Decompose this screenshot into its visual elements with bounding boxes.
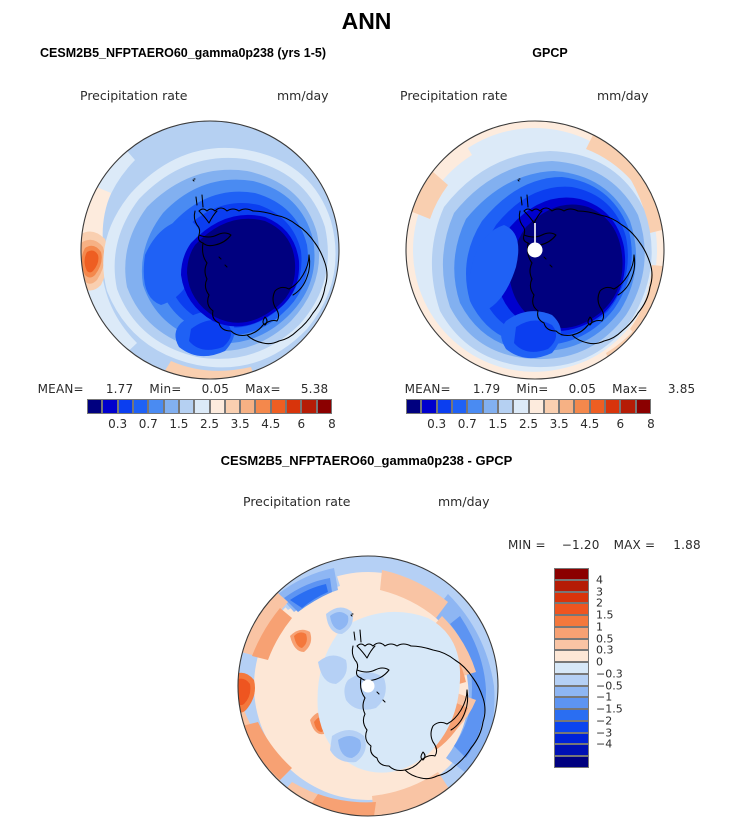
panel-obs-min-label: Min= <box>516 382 548 396</box>
panel-obs-units-label: mm/day <box>597 88 649 103</box>
colorbar-cell <box>225 399 240 414</box>
panel-obs-max-value: 3.85 <box>668 382 696 396</box>
colorbar-cell <box>554 615 589 627</box>
colorbar-cell <box>513 399 528 414</box>
panel-diff-max-label: MAX = <box>614 538 656 552</box>
colorbar-cell <box>194 399 209 414</box>
colorbar-tick-label: 8 <box>328 417 336 431</box>
colorbar-cell <box>554 744 589 756</box>
map-diff <box>232 550 504 822</box>
map-test-contours <box>75 115 345 385</box>
panel-diff-variable-label: Precipitation rate <box>243 494 351 509</box>
colorbar-cell <box>554 721 589 733</box>
panel-diff-min-value: −1.20 <box>562 538 600 552</box>
colorbar-cell <box>406 399 421 414</box>
panel-obs-max-label: Max= <box>612 382 648 396</box>
panel-test-min-value: 0.05 <box>202 382 230 396</box>
colorbar-diff-ticks: 4321.510.50.30−0.3−0.5−1−1.5−2−3−4 <box>596 568 656 768</box>
panel-obs-title: GPCP <box>367 46 733 60</box>
colorbar-cell <box>554 756 589 768</box>
panel-test: CESM2B5_NFPTAERO60_gamma0p238 (yrs 1-5) … <box>0 0 366 440</box>
panel-obs-stats: MEAN= 1.79 Min= 0.05 Max= 3.85 <box>367 382 733 396</box>
panel-test-title: CESM2B5_NFPTAERO60_gamma0p238 (yrs 1-5) <box>0 46 366 60</box>
panel-diff-max-value: 1.88 <box>673 538 701 552</box>
colorbar-cell <box>554 639 589 651</box>
map-obs-svg <box>400 115 670 385</box>
panel-test-stats: MEAN= 1.77 Min= 0.05 Max= 5.38 <box>0 382 366 396</box>
colorbar-cell <box>559 399 574 414</box>
colorbar-cell <box>554 627 589 639</box>
colorbar-tick-label: 4.5 <box>580 417 599 431</box>
panel-diff-stats: MIN = −1.20 MAX = 1.88 <box>508 538 701 552</box>
colorbar-cell <box>554 603 589 615</box>
panel-test-mean-value: 1.77 <box>106 382 134 396</box>
colorbar-cell <box>590 399 605 414</box>
panel-diff-min-label: MIN = <box>508 538 546 552</box>
colorbar-cell <box>87 399 102 414</box>
panel-diff-units-label: mm/day <box>438 494 490 509</box>
colorbar-tick-label: 1.5 <box>488 417 507 431</box>
colorbar-tick-label: −4 <box>596 738 612 751</box>
colorbar-cell <box>498 399 513 414</box>
colorbar-cell <box>467 399 482 414</box>
panel-obs: GPCP Precipitation rate mm/day <box>367 0 733 440</box>
colorbar-tick-label: 0.7 <box>139 417 158 431</box>
colorbar-tick-label: 0.3 <box>108 417 127 431</box>
colorbar-tick-label: 6 <box>298 417 306 431</box>
colorbar-tick-label: 8 <box>647 417 655 431</box>
colorbar-tick-label: 6 <box>617 417 625 431</box>
panel-test-units-label: mm/day <box>277 88 329 103</box>
colorbar-cell <box>301 399 316 414</box>
colorbar-cell <box>554 662 589 674</box>
colorbar-obs-ticks: 0.30.71.52.53.54.568 <box>406 417 651 433</box>
panel-test-variable-label: Precipitation rate <box>80 88 188 103</box>
colorbar-cell <box>102 399 117 414</box>
map-obs <box>400 115 670 385</box>
map-test <box>75 115 345 385</box>
panel-test-min-label: Min= <box>149 382 181 396</box>
colorbar-tick-label: 3.5 <box>550 417 569 431</box>
colorbar-cell <box>554 733 589 745</box>
colorbar-cell <box>544 399 559 414</box>
colorbar-cell <box>554 592 589 604</box>
colorbar-cell <box>179 399 194 414</box>
colorbar-cell <box>148 399 163 414</box>
colorbar-obs[interactable] <box>406 399 651 414</box>
colorbar-cell <box>554 650 589 662</box>
colorbar-cell <box>255 399 270 414</box>
colorbar-cell <box>317 399 332 414</box>
panel-test-mean-label: MEAN= <box>38 382 84 396</box>
colorbar-test[interactable] <box>87 399 332 414</box>
map-diff-svg <box>232 550 504 822</box>
colorbar-cell <box>554 697 589 709</box>
panel-test-max-label: Max= <box>245 382 281 396</box>
colorbar-cell <box>118 399 133 414</box>
panel-test-max-value: 5.38 <box>301 382 329 396</box>
colorbar-test-ticks: 0.30.71.52.53.54.568 <box>87 417 332 433</box>
colorbar-cell <box>210 399 225 414</box>
panel-obs-min-value: 0.05 <box>569 382 597 396</box>
colorbar-cell <box>483 399 498 414</box>
colorbar-cell <box>421 399 436 414</box>
panel-diff-title: CESM2B5_NFPTAERO60_gamma0p238 - GPCP <box>0 453 733 468</box>
colorbar-tick-label: 4.5 <box>261 417 280 431</box>
map-diff-pole-missing-data <box>362 680 375 693</box>
colorbar-cell <box>437 399 452 414</box>
colorbar-cell <box>554 580 589 592</box>
colorbar-cell <box>636 399 651 414</box>
colorbar-cell <box>133 399 148 414</box>
colorbar-cell <box>605 399 620 414</box>
colorbar-cell <box>271 399 286 414</box>
colorbar-tick-label: 2.5 <box>200 417 219 431</box>
colorbar-tick-label: 2.5 <box>519 417 538 431</box>
colorbar-cell <box>620 399 635 414</box>
colorbar-tick-label: 0.7 <box>458 417 477 431</box>
colorbar-tick-label: 3.5 <box>231 417 250 431</box>
colorbar-cell <box>554 709 589 721</box>
colorbar-tick-label: 0.3 <box>427 417 446 431</box>
map-obs-pole-missing-data <box>528 243 543 258</box>
panel-obs-variable-label: Precipitation rate <box>400 88 508 103</box>
panel-diff: CESM2B5_NFPTAERO60_gamma0p238 - GPCP Pre… <box>0 450 733 780</box>
colorbar-cell <box>554 674 589 686</box>
panel-obs-mean-label: MEAN= <box>405 382 451 396</box>
colorbar-cell <box>286 399 301 414</box>
colorbar-cell <box>240 399 255 414</box>
colorbar-cell <box>452 399 467 414</box>
colorbar-cell <box>554 568 589 580</box>
colorbar-diff[interactable] <box>554 568 589 768</box>
colorbar-tick-label: 1.5 <box>169 417 188 431</box>
colorbar-cell <box>574 399 589 414</box>
colorbar-cell <box>554 686 589 698</box>
panel-obs-mean-value: 1.79 <box>473 382 501 396</box>
colorbar-cell <box>529 399 544 414</box>
map-test-svg <box>75 115 345 385</box>
colorbar-cell <box>164 399 179 414</box>
